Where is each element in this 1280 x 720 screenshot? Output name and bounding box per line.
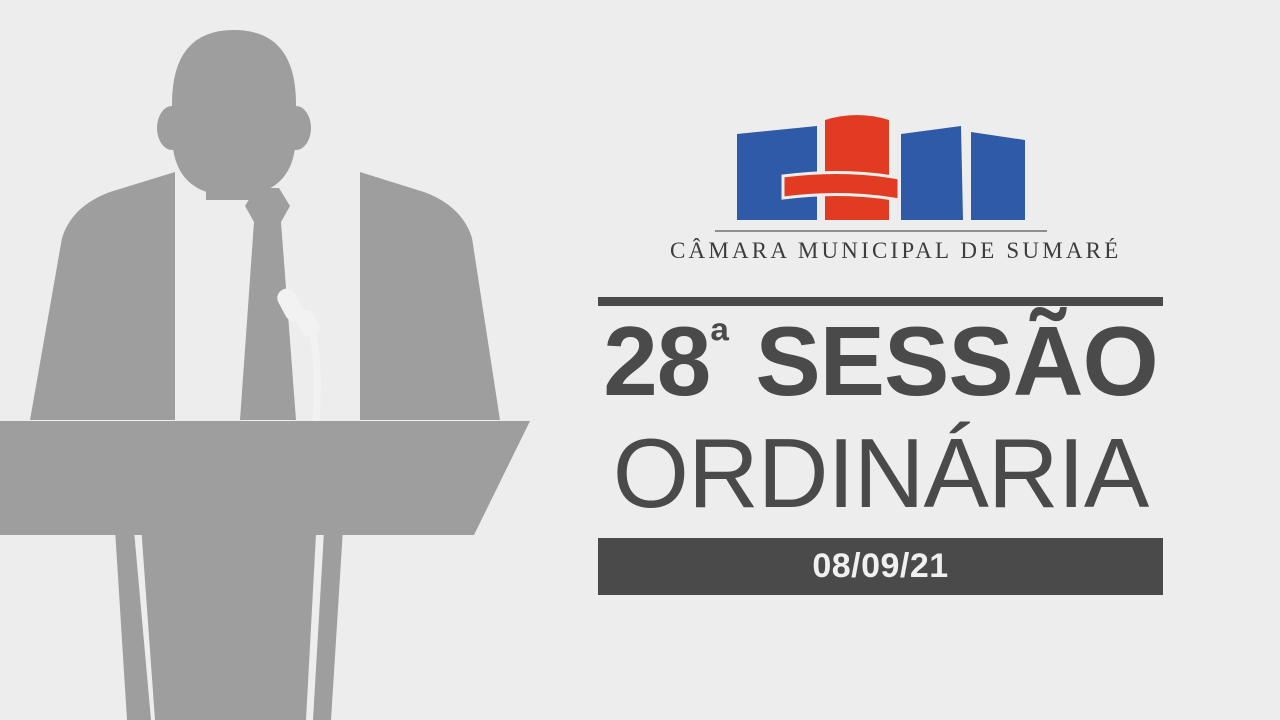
- speaker-at-podium-illustration: [0, 0, 560, 720]
- session-title-card: CÂMARA MUNICIPAL DE SUMARÉ 28ª SESSÃO OR…: [0, 0, 1280, 720]
- logo-wordmark: CÂMARA MUNICIPAL DE SUMARÉ: [670, 238, 1090, 264]
- session-heading: 28ª SESSÃO: [598, 312, 1163, 410]
- capitol-building-icon: [725, 108, 1035, 224]
- neck-shape: [206, 176, 262, 200]
- podium-base-body: [139, 497, 318, 720]
- logo-red-banner-band: [783, 172, 899, 200]
- head-shape: [172, 30, 296, 196]
- session-ordinal-suffix: ª: [710, 312, 729, 369]
- session-type-heading: ORDINÁRIA: [598, 424, 1163, 522]
- logo-right-blue-wing-outer: [971, 132, 1025, 220]
- session-number: 28: [603, 306, 710, 416]
- camara-municipal-logo: CÂMARA MUNICIPAL DE SUMARÉ: [670, 108, 1090, 278]
- session-word: SESSÃO: [755, 306, 1157, 416]
- speaker-podium-svg: [0, 0, 560, 720]
- session-date-text: 08/09/21: [812, 547, 948, 586]
- title-top-rule: [598, 297, 1163, 306]
- logo-right-blue-wing-inner: [901, 126, 963, 220]
- logo-divider-rule: [715, 230, 1047, 232]
- logo-center-red-tower: [825, 115, 889, 220]
- branding-and-title-block: CÂMARA MUNICIPAL DE SUMARÉ 28ª SESSÃO OR…: [560, 0, 1280, 720]
- session-date-badge: 08/09/21: [598, 538, 1163, 595]
